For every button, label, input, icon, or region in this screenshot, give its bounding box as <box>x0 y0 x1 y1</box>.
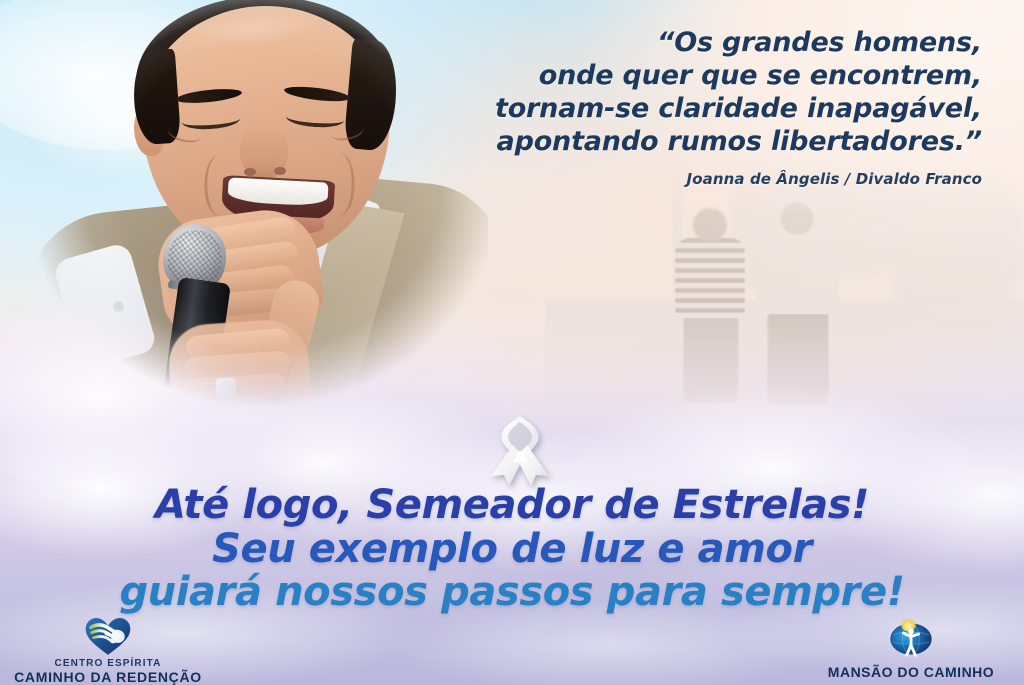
cuff-button <box>114 302 123 311</box>
headline-line-1: Até logo, Semeador de Estrelas! <box>0 485 1024 527</box>
logo-right-text: MANSÃO DO CAMINHO <box>828 659 994 680</box>
background-person-white-head <box>780 202 814 236</box>
logo-left-line-1: CENTRO ESPÍRITA <box>14 658 202 669</box>
quote-line-2: onde quer que se encontrem, <box>422 59 982 92</box>
headline-line-2: Seu exemplo de luz e amor <box>0 529 1024 571</box>
quote-line-4: apontando rumos libertadores.” <box>422 125 982 158</box>
quote-line-1: “Os grandes homens, <box>422 26 982 59</box>
logo-left-text: CENTRO ESPÍRITA CAMINHO DA REDENÇÃO <box>14 658 202 685</box>
background-palm <box>875 195 965 305</box>
globe-figure-torch-icon <box>889 616 933 657</box>
heart-hands-icon <box>84 616 132 656</box>
nostril-right <box>274 167 286 175</box>
background-person-striped-head <box>693 208 727 242</box>
logo-right-line-1: MANSÃO DO CAMINHO <box>828 664 994 680</box>
nostril-left <box>244 168 256 176</box>
background-photo-two-people-walking <box>545 150 1024 450</box>
quote-attribution: Joanna de Ângelis / Divaldo Franco <box>422 170 982 188</box>
background-person-striped-legs <box>683 313 739 403</box>
quote-block: “Os grandes homens, onde quer que se enc… <box>422 26 982 188</box>
logo-mansao-do-caminho: MANSÃO DO CAMINHO <box>806 616 1016 680</box>
logo-centro-espirita-caminho-da-redencao: CENTRO ESPÍRITA CAMINHO DA REDENÇÃO <box>8 616 208 685</box>
memorial-poster: “Os grandes homens, onde quer que se enc… <box>0 0 1024 685</box>
background-person-white-body <box>757 232 839 314</box>
background-person-white-legs <box>767 310 829 406</box>
headline-block: Até logo, Semeador de Estrelas! Seu exem… <box>0 485 1024 614</box>
headline-line-3: guiará nossos passos para sempre! <box>0 572 1024 614</box>
logo-left-line-2: CAMINHO DA REDENÇÃO <box>14 669 202 685</box>
portrait-elderly-man <box>18 0 488 442</box>
quote-line-3: tornam-se claridade inapagável, <box>422 92 982 125</box>
background-person-striped-body <box>675 238 745 318</box>
finger-ring <box>215 377 236 398</box>
